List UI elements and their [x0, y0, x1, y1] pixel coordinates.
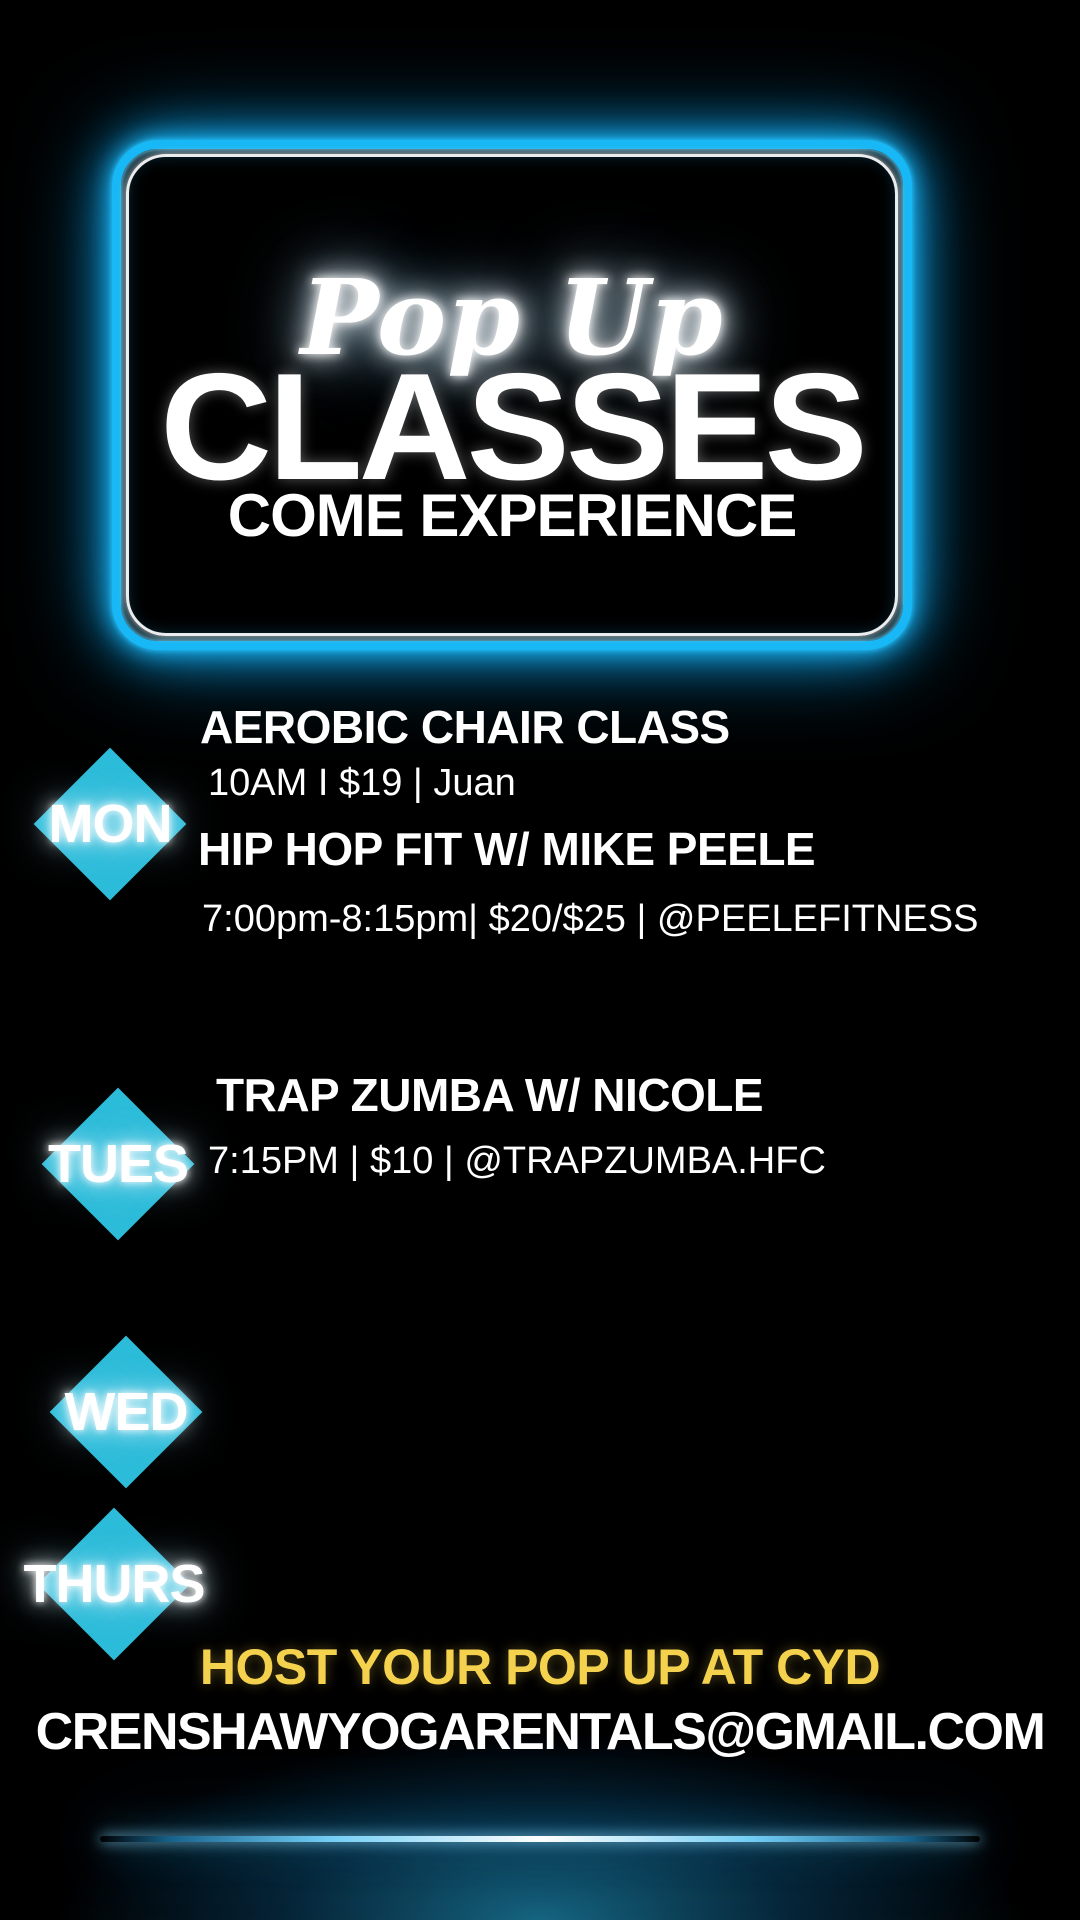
class-meta: 7:15PM | $10 | @TRAPZUMBA.HFC — [208, 1140, 826, 1183]
day-row-wed: WED — [0, 1330, 1080, 1508]
footer-email-text[interactable]: CRENSHAWYOGARENTALS@GMAIL.COM — [0, 1702, 1080, 1762]
day-badge-wed[interactable]: WED — [50, 1336, 202, 1488]
neon-title-block: Pop Up CLASSES COME EXPERIENCE — [112, 140, 912, 650]
day-badge-label: TUES — [48, 1133, 188, 1195]
class-meta: 7:00pm-8:15pm| $20/$25 | @PEELEFITNESS — [202, 898, 978, 941]
title-main-line: CLASSES — [160, 362, 864, 493]
day-badge-label: THURS — [24, 1553, 205, 1615]
schedule-list: MON AEROBIC CHAIR CLASS 10AM I $19 | Jua… — [0, 700, 1080, 1688]
title-text-group: Pop Up CLASSES COME EXPERIENCE — [112, 140, 912, 650]
poster-root: Pop Up CLASSES COME EXPERIENCE MON AEROB… — [0, 0, 1080, 1920]
class-title: TRAP ZUMBA W/ NICOLE — [216, 1068, 763, 1122]
day-row-tues: TUES TRAP ZUMBA W/ NICOLE 7:15PM | $10 |… — [0, 1030, 1080, 1330]
footer-glow-background — [0, 1660, 1080, 1920]
class-meta-row: 7:00pm-8:15pm| $20/$25 | @PEELEFITNESS — [202, 898, 978, 941]
class-meta: 10AM I $19 | Juan — [208, 762, 516, 805]
footer: HOST YOUR POP UP AT CYD CRENSHAWYOGARENT… — [0, 1620, 1080, 1920]
class-title: HIP HOP FIT W/ MIKE PEELE — [198, 822, 815, 876]
day-row-mon: MON AEROBIC CHAIR CLASS 10AM I $19 | Jua… — [0, 700, 1080, 1030]
day-badge-label: MON — [49, 793, 172, 855]
class-entry[interactable]: TRAP ZUMBA W/ NICOLE — [216, 1068, 763, 1122]
footer-cta-text: HOST YOUR POP UP AT CYD — [0, 1638, 1080, 1696]
class-title: AEROBIC CHAIR CLASS — [200, 700, 730, 754]
class-meta-row: 7:15PM | $10 | @TRAPZUMBA.HFC — [208, 1140, 826, 1183]
class-entry[interactable]: AEROBIC CHAIR CLASS — [200, 700, 730, 754]
day-badge-mon[interactable]: MON — [34, 748, 186, 900]
day-badge-tues[interactable]: TUES — [42, 1088, 194, 1240]
class-meta-row: 10AM I $19 | Juan — [208, 762, 516, 805]
neon-light-bar — [100, 1836, 980, 1842]
class-entry[interactable]: HIP HOP FIT W/ MIKE PEELE — [198, 822, 815, 876]
day-badge-label: WED — [65, 1381, 188, 1443]
